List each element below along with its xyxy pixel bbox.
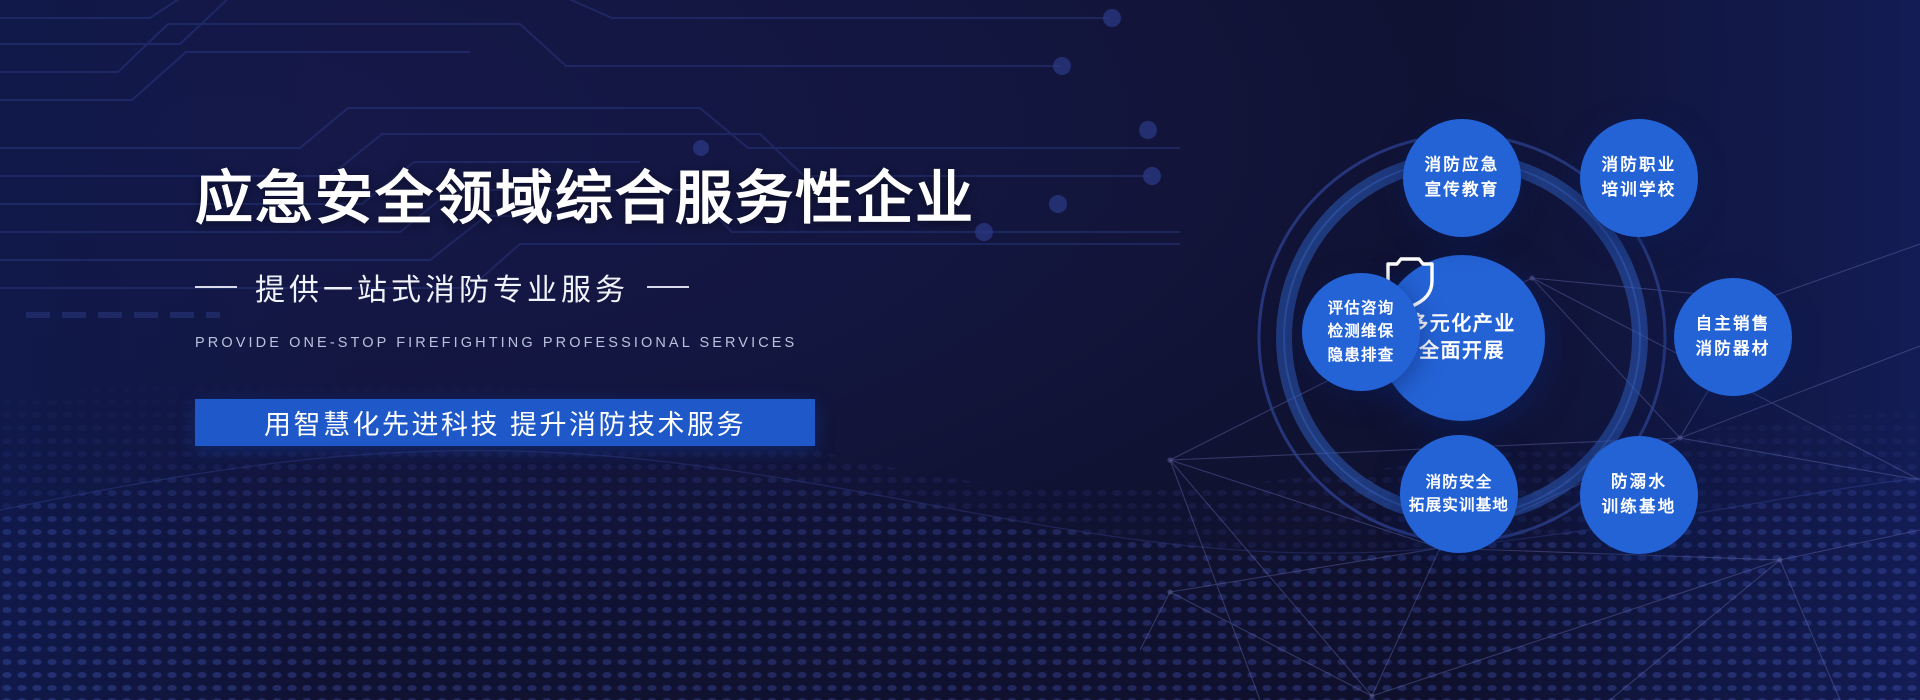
node-fire-vocational-school[interactable]: 消防职业 培训学校 <box>1580 119 1698 237</box>
node-4-line-2: 拓展实训基地 <box>1409 494 1509 517</box>
node-0-line-2: 宣传教育 <box>1425 178 1500 203</box>
cta-banner-label: 用智慧化先进科技 提升消防技术服务 <box>264 403 746 442</box>
node-equipment-sales[interactable]: 自主销售 消防器材 <box>1674 278 1792 396</box>
cta-banner-button[interactable]: 用智慧化先进科技 提升消防技术服务 <box>195 399 815 446</box>
node-2-line-2: 消防器材 <box>1696 337 1771 362</box>
node-anti-drowning-base[interactable]: 防溺水 训练基地 <box>1580 436 1698 554</box>
node-5-line-3: 隐患排查 <box>1328 344 1395 367</box>
node-fire-safety-training-base[interactable]: 消防安全 拓展实训基地 <box>1400 435 1518 553</box>
node-5-line-2: 检测维保 <box>1328 320 1395 343</box>
node-2-line-1: 自主销售 <box>1696 312 1771 337</box>
node-1-line-2: 培训学校 <box>1602 178 1677 203</box>
subtitle-row: 提供一站式消防专业服务 <box>195 265 1025 309</box>
dash-right-icon <box>647 286 689 288</box>
center-line-2: 全面开展 <box>1419 338 1505 365</box>
node-4-line-1: 消防安全 <box>1426 471 1493 494</box>
dash-left-icon <box>195 286 237 288</box>
hero-english-subtitle: PROVIDE ONE-STOP FIREFIGHTING PROFESSION… <box>195 335 1025 351</box>
node-assessment-inspection[interactable]: 评估咨询 检测维保 隐患排查 <box>1302 273 1420 391</box>
node-1-line-1: 消防职业 <box>1602 153 1677 178</box>
center-line-1: 多元化产业 <box>1408 311 1516 338</box>
hero-subtitle: 提供一站式消防专业服务 <box>255 265 629 309</box>
hero-copy-block: 应急安全领域综合服务性企业 提供一站式消防专业服务 PROVIDE ONE-ST… <box>195 168 1025 446</box>
node-3-line-2: 训练基地 <box>1602 495 1677 520</box>
page-title: 应急安全领域综合服务性企业 <box>195 168 1025 231</box>
hero-banner: 应急安全领域综合服务性企业 提供一站式消防专业服务 PROVIDE ONE-ST… <box>0 0 1920 700</box>
node-0-line-1: 消防应急 <box>1425 153 1500 178</box>
node-fire-emergency-education[interactable]: 消防应急 宣传教育 <box>1403 119 1521 237</box>
node-5-line-1: 评估咨询 <box>1328 297 1395 320</box>
node-3-line-1: 防溺水 <box>1611 470 1667 495</box>
services-circle-diagram: 多元化产业 全面开展 消防应急 宣传教育 消防职业 培训学校 自主销售 消防器材… <box>1152 78 1772 598</box>
